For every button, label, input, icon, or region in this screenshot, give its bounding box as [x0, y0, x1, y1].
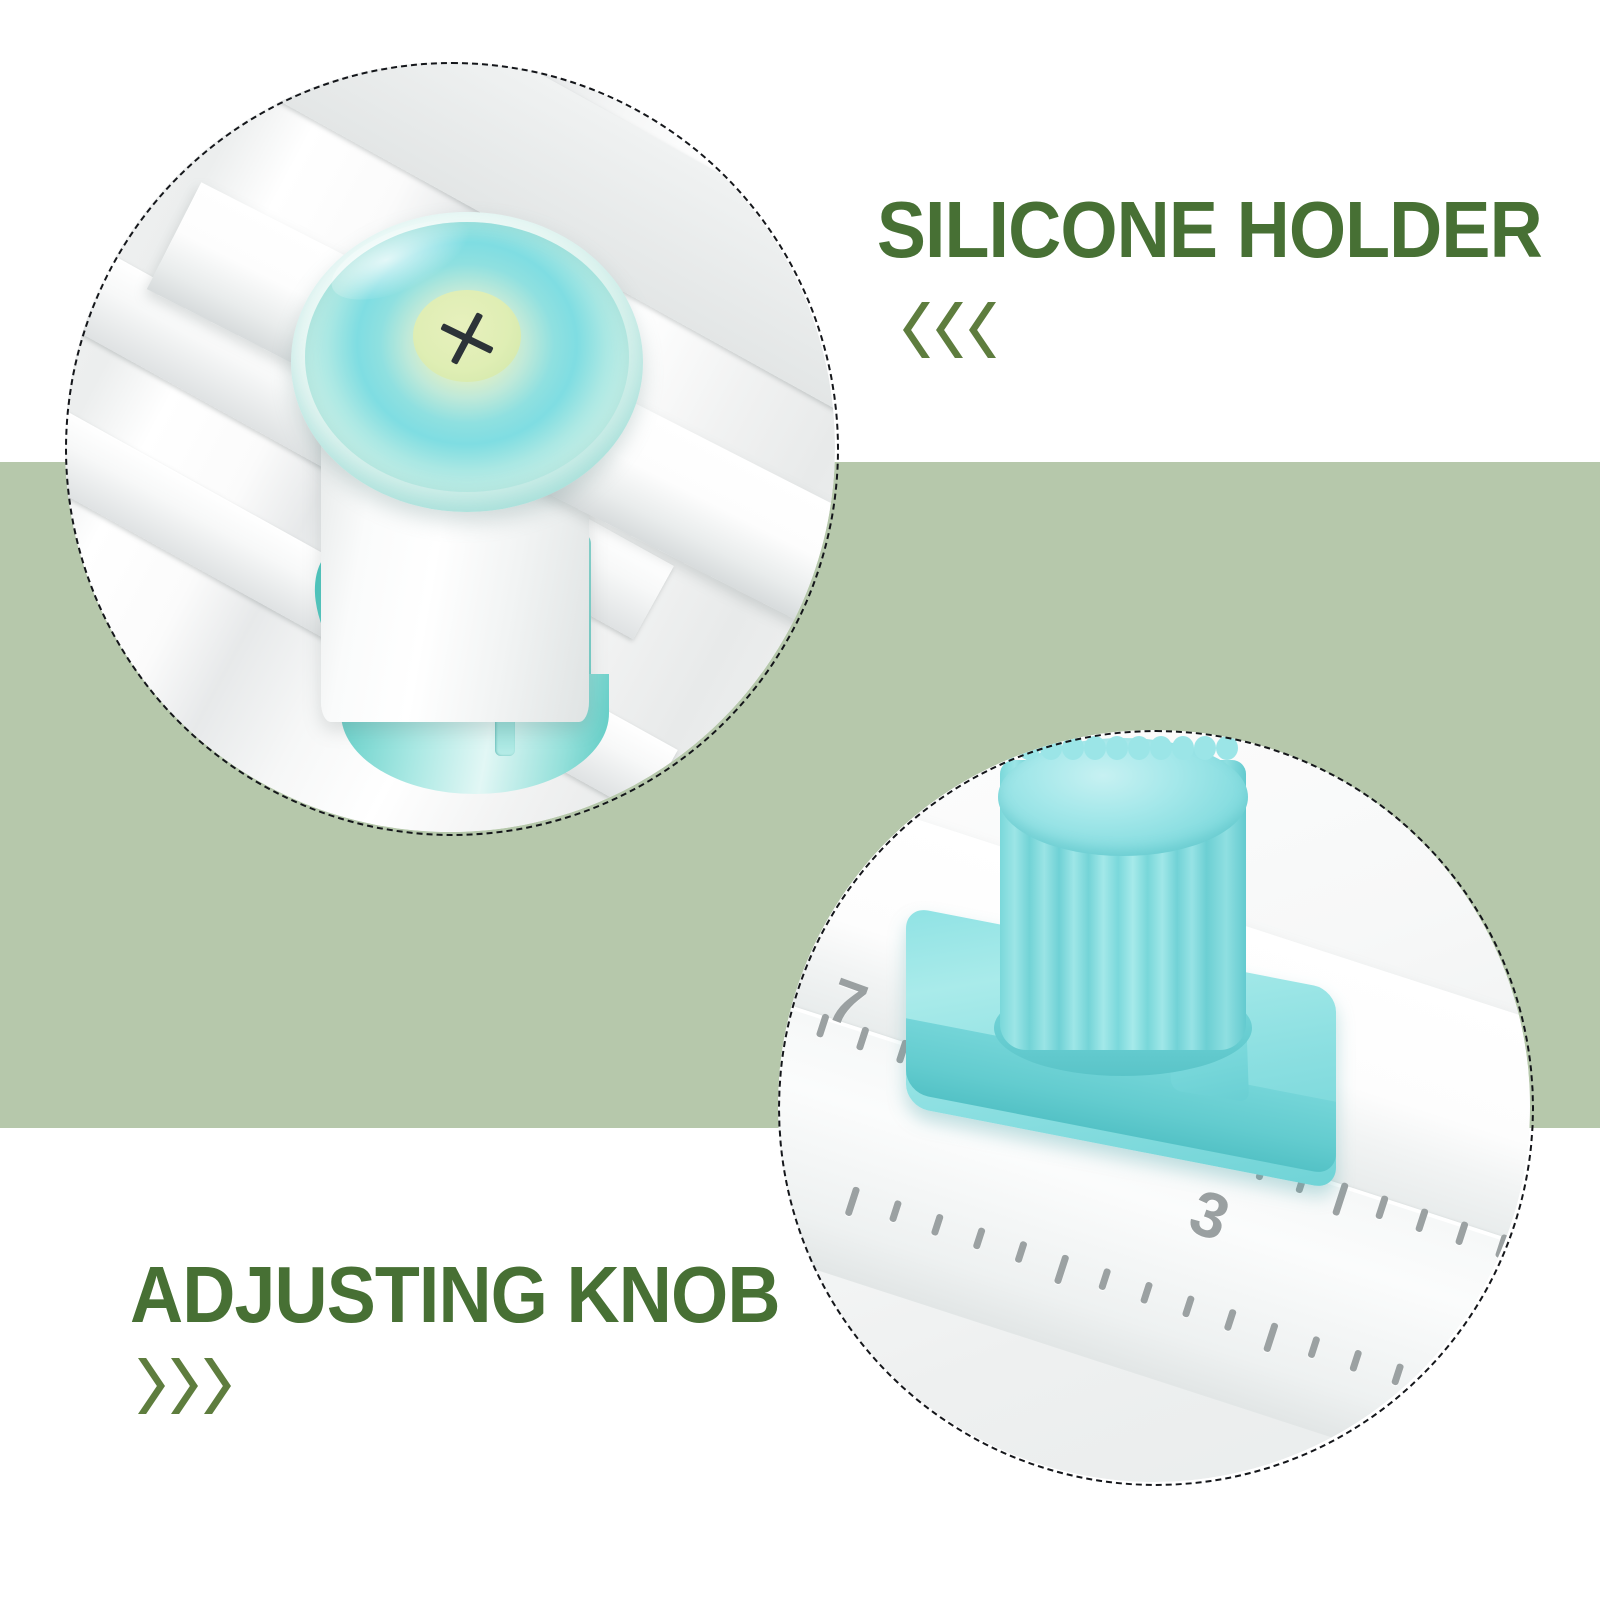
- silicone-holder-photo: [65, 62, 835, 832]
- callout-title-adjusting-knob: ADJUSTING KNOB: [130, 1255, 780, 1335]
- callout-title-silicone-holder: SILICONE HOLDER: [877, 190, 1542, 270]
- chevron-left-icon: [903, 302, 930, 358]
- knob-scalloped-rim: [994, 736, 1252, 860]
- chevron-left-icon: [969, 302, 996, 358]
- inset-adjusting-knob: 7 3: [778, 730, 1530, 1482]
- chevron-right-icon: [138, 1358, 165, 1414]
- chevron-right-icon: [204, 1358, 231, 1414]
- chevron-left-icon: [936, 302, 963, 358]
- adjusting-knob-photo: 7 3: [778, 730, 1530, 1482]
- infographic-canvas: 7 3 SILICONE HOLDER ADJUSTING KNOB: [0, 0, 1600, 1600]
- inset-silicone-holder: [65, 62, 835, 832]
- chevron-right-icon: [171, 1358, 198, 1414]
- cross-slit-icon: [437, 310, 497, 366]
- chevron-group-right: [138, 1358, 231, 1414]
- chevron-group-left: [903, 302, 996, 358]
